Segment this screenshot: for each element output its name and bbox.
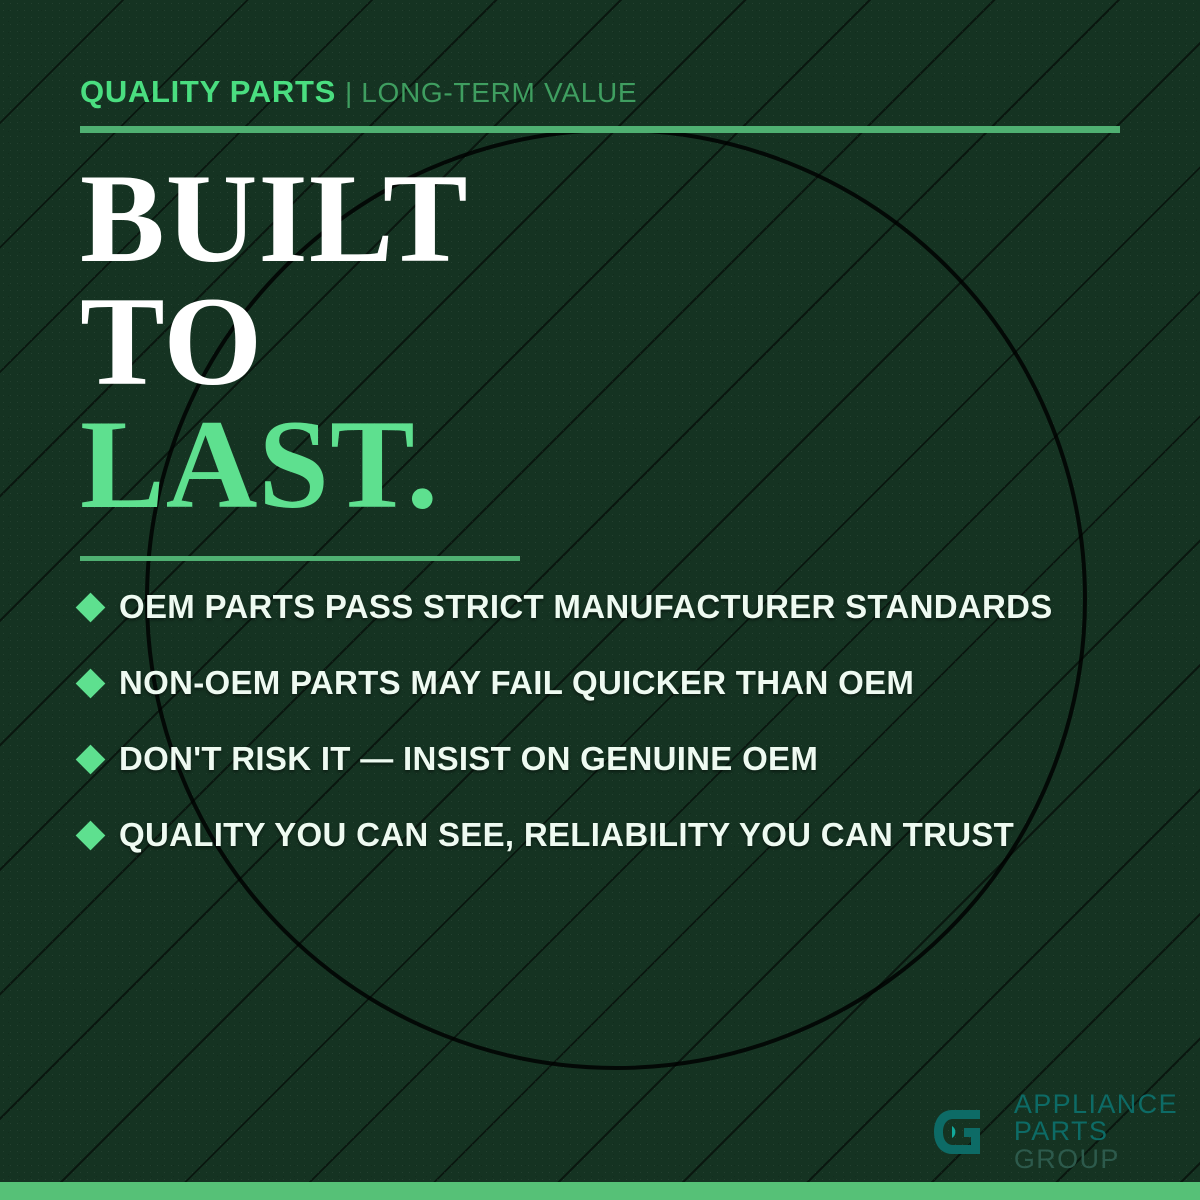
bullet-label: NON-OEM PARTS MAY FAIL QUICKER THAN OEM xyxy=(119,664,914,702)
list-item: NON-OEM PARTS MAY FAIL QUICKER THAN OEM xyxy=(80,664,1150,702)
bullet-list: OEM PARTS PASS STRICT MANUFACTURER STAND… xyxy=(80,588,1150,854)
logo-line-1: APPLIANCE xyxy=(1014,1091,1178,1119)
bullet-label: OEM PARTS PASS STRICT MANUFACTURER STAND… xyxy=(119,588,1053,626)
brand-logo-wordmark: APPLIANCE PARTS GROUP xyxy=(1014,1091,1178,1174)
bullet-label: QUALITY YOU CAN SEE, RELIABILITY YOU CAN… xyxy=(119,816,1014,854)
g-monogram-icon xyxy=(918,1090,1002,1174)
kicker: QUALITY PARTS | LONG-TERM VALUE xyxy=(80,74,637,110)
headline-line-1: BUILT xyxy=(80,158,469,281)
list-item: DON'T RISK IT — INSIST ON GENUINE OEM xyxy=(80,740,1150,778)
diamond-bullet-icon xyxy=(76,592,106,622)
headline: BUILT TO LAST. xyxy=(80,158,469,528)
kicker-separator: | xyxy=(345,77,352,109)
logo-line-2: PARTS xyxy=(1014,1118,1178,1146)
list-item: QUALITY YOU CAN SEE, RELIABILITY YOU CAN… xyxy=(80,816,1150,854)
diamond-bullet-icon xyxy=(76,668,106,698)
list-item: OEM PARTS PASS STRICT MANUFACTURER STAND… xyxy=(80,588,1150,626)
bullet-label: DON'T RISK IT — INSIST ON GENUINE OEM xyxy=(119,740,818,778)
bottom-accent-strip xyxy=(0,1182,1200,1200)
kicker-main-label: QUALITY PARTS xyxy=(80,74,336,110)
top-divider-rule xyxy=(80,126,1120,133)
logo-line-3: GROUP xyxy=(1014,1146,1178,1174)
headline-line-2: TO xyxy=(80,281,469,404)
headline-divider-rule xyxy=(80,556,520,561)
diamond-bullet-icon xyxy=(76,744,106,774)
poster-canvas: QUALITY PARTS | LONG-TERM VALUE BUILT TO… xyxy=(0,0,1200,1200)
brand-logo: APPLIANCE PARTS GROUP xyxy=(918,1090,1178,1174)
diamond-bullet-icon xyxy=(76,820,106,850)
headline-line-3: LAST. xyxy=(80,404,469,527)
kicker-sub-label: LONG-TERM VALUE xyxy=(361,77,637,109)
